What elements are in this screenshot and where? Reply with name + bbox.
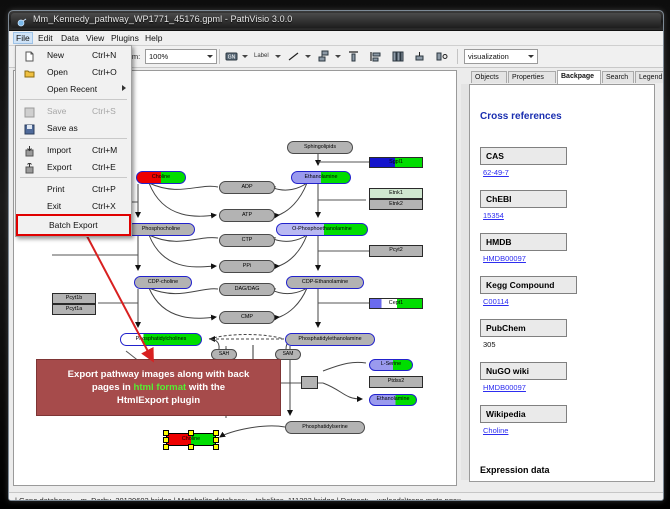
node-ppi[interactable]: PPi	[219, 260, 275, 273]
folder-icon	[24, 66, 35, 77]
pathvisio-icon	[17, 15, 27, 25]
menu-edit[interactable]: Edit	[35, 32, 56, 44]
menu-separator-2	[20, 138, 127, 139]
xref-label-pubchem: PubChem	[480, 319, 567, 337]
tab-backpage[interactable]: Backpage	[557, 70, 601, 84]
chevron-down-icon	[528, 55, 534, 58]
menu-separator-1	[20, 99, 127, 100]
node-ethanolamine-2[interactable]: Ethanolamine	[369, 394, 417, 406]
node-ctp[interactable]: CTP	[219, 234, 275, 247]
menu-data[interactable]: Data	[58, 32, 82, 44]
side-panel-tabs: Objects Properties Backpage Search Legen…	[461, 70, 657, 84]
menu-plugins[interactable]: Plugins	[108, 32, 142, 44]
menu-item-new[interactable]: NewCtrl+N	[16, 46, 131, 63]
node-atp[interactable]: ATP	[219, 209, 275, 222]
menu-bar: File Edit Data View Plugins Help	[9, 31, 663, 46]
node-cdp-ethanolamine[interactable]: CDP-Ethanolamine	[286, 276, 364, 289]
xref-label-cas: CAS	[480, 147, 567, 165]
callout-line-1: Export pathway images along with back	[68, 368, 250, 381]
datanode-icon[interactable]: GN	[225, 50, 238, 63]
callout-line-3: HtmlExport plugin	[117, 394, 200, 407]
xref-value-nugo[interactable]: HMDB00097	[483, 383, 526, 392]
gene-ptdss1-node[interactable]	[301, 376, 318, 389]
node-ethanolamine[interactable]: Ethanolamine	[291, 171, 351, 184]
menu-item-exit[interactable]: ExitCtrl+X	[16, 197, 131, 214]
callout-highlight: html format	[133, 382, 186, 393]
menu-item-open[interactable]: OpenCtrl+O	[16, 63, 131, 80]
node-phosphatidylserine[interactable]: Phosphatidylserine	[285, 421, 365, 434]
visualization-combobox[interactable]: visualization	[464, 49, 538, 64]
pathvisio-window: Mm_Kennedy_pathway_WP1771_45176.gpml - P…	[8, 10, 664, 501]
node-l-serine[interactable]: L-Serine	[369, 359, 413, 371]
callout-line-2b: with the	[186, 382, 225, 393]
node-adp[interactable]: ADP	[219, 181, 275, 194]
chevron-down-icon	[207, 55, 213, 58]
xref-label-chebi: ChEBI	[480, 190, 567, 208]
tab-search[interactable]: Search	[602, 71, 634, 83]
backpage-content: Cross references CAS 62-49-7 ChEBI 15354…	[469, 84, 655, 482]
status-text: | Gene database: ...m_Derby_20120602.bri…	[15, 496, 461, 501]
desktop-background: Mm_Kennedy_pathway_WP1771_45176.gpml - P…	[0, 0, 670, 509]
selection-handle-se[interactable]	[213, 444, 219, 450]
menu-item-import[interactable]: ImportCtrl+M	[16, 141, 131, 158]
tab-legend[interactable]: Legend	[635, 71, 664, 83]
gene-cept1[interactable]: Cept1	[369, 298, 423, 309]
file-menu-dropdown: NewCtrl+N OpenCtrl+O Open Recent SaveCtr…	[15, 45, 132, 237]
save-as-icon	[24, 122, 35, 133]
xref-label-wikipedia: Wikipedia	[480, 405, 567, 423]
gene-pcyt1b[interactable]: Pcyt1b	[52, 293, 96, 304]
selection-handle-s[interactable]	[188, 444, 194, 450]
stack-icon[interactable]	[391, 50, 404, 63]
align-top-icon[interactable]	[347, 50, 360, 63]
shape-dropdown-icon[interactable]	[335, 55, 341, 58]
node-phosphatidylethanolamine[interactable]: Phosphatidylethanolamine	[285, 333, 375, 346]
svg-text:GN: GN	[228, 55, 236, 61]
menu-item-export[interactable]: ExportCtrl+E	[16, 158, 131, 175]
node-cmp[interactable]: CMP	[219, 311, 275, 324]
cross-references-heading: Cross references	[480, 111, 562, 122]
xref-label-nugo: NuGO wiki	[480, 362, 567, 380]
expression-data-heading: Expression data	[480, 465, 550, 475]
xref-value-hmdb[interactable]: HMDB00097	[483, 254, 526, 263]
gene-etnk1[interactable]: Etnk1	[369, 188, 423, 199]
node-dag[interactable]: DAG/DAG	[219, 283, 275, 296]
menu-item-print[interactable]: PrintCtrl+P	[16, 180, 131, 197]
menu-item-batch-export[interactable]: Batch Export	[16, 214, 131, 236]
gene-pcyt2[interactable]: Pcyt2	[369, 245, 423, 257]
callout-line-2: pages in html format with the	[92, 381, 225, 394]
menu-view[interactable]: View	[83, 32, 107, 44]
shape-icon[interactable]	[317, 50, 330, 63]
xref-value-kegg[interactable]: C00114	[483, 297, 509, 306]
selection-handle-sw[interactable]	[163, 444, 169, 450]
selection-handle-ne[interactable]	[213, 430, 219, 436]
distribute-icon[interactable]	[413, 50, 426, 63]
label-icon[interactable]: Label	[254, 53, 269, 59]
menu-item-save-as[interactable]: Save as	[16, 119, 131, 136]
line-dropdown-icon[interactable]	[305, 55, 311, 58]
gene-sgpl1[interactable]: Sgpl1	[369, 157, 423, 168]
node-sphingolipids[interactable]: Sphingolipids	[287, 141, 353, 154]
visualization-value: visualization	[468, 52, 509, 61]
export-icon	[24, 161, 35, 172]
datanode-dropdown-icon[interactable]	[242, 55, 248, 58]
menu-separator-3	[20, 177, 127, 178]
save-icon	[24, 105, 35, 116]
window-title: Mm_Kennedy_pathway_WP1771_45176.gpml - P…	[33, 14, 292, 24]
node-o-phosphoethanolamine[interactable]: O-Phosphoethanolamine	[276, 223, 368, 236]
selection-handle-w[interactable]	[163, 437, 169, 443]
xref-label-kegg: Kegg Compound	[480, 276, 577, 294]
gene-pcyt1a[interactable]: Pcyt1a	[52, 304, 96, 315]
xref-label-hmdb: HMDB	[480, 233, 567, 251]
xref-value-cas[interactable]: 62-49-7	[483, 168, 509, 177]
status-bar: | Gene database: ...m_Derby_20120602.bri…	[9, 492, 663, 501]
node-phosphocholine[interactable]: Phosphocholine	[127, 223, 195, 236]
line-icon[interactable]	[287, 50, 300, 63]
import-icon	[24, 144, 35, 155]
node-phosphatidylcholines[interactable]: Phosphatidylcholines	[120, 333, 202, 346]
label-dropdown-icon[interactable]	[275, 55, 281, 58]
menu-item-save: SaveCtrl+S	[16, 102, 131, 119]
selection-handle-n[interactable]	[188, 430, 194, 436]
zoom-combobox[interactable]: 100%	[145, 49, 217, 64]
side-panel: Objects Properties Backpage Search Legen…	[461, 70, 657, 484]
gene-etnk2[interactable]: Etnk2	[369, 199, 423, 210]
zoom-value: 100%	[149, 52, 168, 61]
node-cdp-choline[interactable]: CDP-choline	[134, 276, 192, 289]
selection-handle-e[interactable]	[213, 437, 219, 443]
tab-objects[interactable]: Objects	[471, 71, 507, 83]
tab-properties[interactable]: Properties	[508, 71, 556, 83]
align-left-icon[interactable]	[369, 50, 382, 63]
selection-handle-nw[interactable]	[163, 430, 169, 436]
menu-item-open-recent[interactable]: Open Recent	[16, 80, 131, 97]
menu-help[interactable]: Help	[142, 32, 165, 44]
xref-value-chebi[interactable]: 15354	[483, 211, 504, 220]
gene-ptdss2[interactable]: Ptdss2	[369, 376, 423, 388]
menu-file[interactable]: File	[13, 32, 33, 44]
window-titlebar: Mm_Kennedy_pathway_WP1771_45176.gpml - P…	[9, 11, 663, 31]
callout-line-2a: pages in	[92, 382, 134, 393]
xref-value-pubchem: 305	[483, 340, 496, 349]
node-choline[interactable]: Choline	[136, 171, 186, 184]
annotation-callout: Export pathway images along with back pa…	[36, 359, 281, 416]
group-icon[interactable]	[435, 50, 448, 63]
xref-value-wikipedia[interactable]: Choline	[483, 426, 508, 435]
new-file-icon	[24, 49, 35, 60]
chevron-right-icon	[122, 85, 126, 91]
